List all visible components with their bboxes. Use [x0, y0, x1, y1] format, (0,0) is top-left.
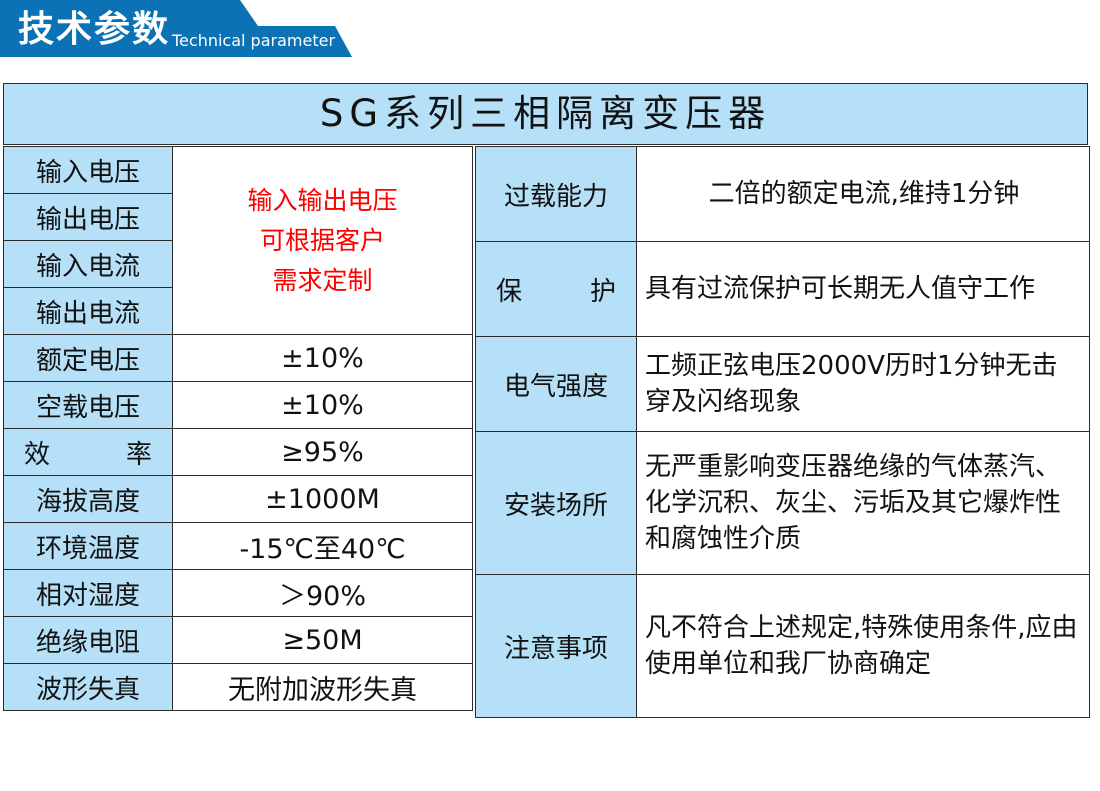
banner-title-cn: 技术参数	[18, 8, 170, 52]
page-title: SG系列三相隔离变压器	[320, 92, 771, 136]
table-title-row: SG系列三相隔离变压器	[3, 83, 1088, 145]
row-label-altitude: 海拔高度	[4, 476, 173, 523]
row-label-noload-voltage: 空载电压	[4, 382, 173, 429]
table-row: 输入电压 输入输出电压 可根据客户 需求定制	[4, 147, 473, 194]
row-value-altitude: ±1000M	[173, 476, 473, 523]
row-value-ambient-temperature: -15℃至40℃	[173, 523, 473, 570]
table-row: 额定电压 ±10%	[4, 335, 473, 382]
custom-voltage-note-line3: 需求定制	[173, 261, 472, 301]
custom-voltage-note: 输入输出电压 可根据客户 需求定制	[173, 147, 473, 335]
row-value-relative-humidity: ＞90%	[173, 570, 473, 617]
row-value-efficiency: ≥95%	[173, 429, 473, 476]
banner-title-en: Technical parameter	[172, 31, 335, 51]
row-label-protection-char1: 保	[496, 271, 522, 308]
row-label-protection-char2: 护	[590, 271, 616, 308]
table-row: 效 率 ≥95%	[4, 429, 473, 476]
table-row: 环境温度 -15℃至40℃	[4, 523, 473, 570]
row-label-protection: 保 护	[476, 242, 637, 337]
custom-voltage-note-line2: 可根据客户	[173, 221, 472, 261]
table-row: 绝缘电阻 ≥50M	[4, 617, 473, 664]
custom-voltage-note-line1: 输入输出电压	[173, 181, 472, 221]
row-value-electrical-strength: 工频正弦电压2000V历时1分钟无击穿及闪络现象	[637, 337, 1090, 432]
row-label-installation-site: 安装场所	[476, 432, 637, 575]
specifications-section: SG系列三相隔离变压器 输入电压 输入输出电压 可根据客户 需求定制 输出电压 …	[3, 83, 1090, 718]
row-value-noload-voltage: ±10%	[173, 382, 473, 429]
row-label-efficiency-char2: 率	[126, 434, 152, 471]
table-row: 空载电压 ±10%	[4, 382, 473, 429]
row-value-overload-capacity: 二倍的额定电流,维持1分钟	[637, 147, 1090, 242]
row-value-rated-voltage: ±10%	[173, 335, 473, 382]
tables-container: 输入电压 输入输出电压 可根据客户 需求定制 输出电压 输入电流 输出电流	[3, 146, 1090, 718]
table-row: 保 护 具有过流保护可长期无人值守工作	[476, 242, 1090, 337]
left-spec-table: 输入电压 输入输出电压 可根据客户 需求定制 输出电压 输入电流 输出电流	[3, 146, 473, 711]
row-label-efficiency: 效 率	[4, 429, 173, 476]
right-spec-table: 过载能力 二倍的额定电流,维持1分钟 保 护 具有过流保护可长期无人值守工作 电…	[475, 146, 1090, 718]
table-row: 过载能力 二倍的额定电流,维持1分钟	[476, 147, 1090, 242]
table-row: 海拔高度 ±1000M	[4, 476, 473, 523]
table-row: 波形失真 无附加波形失真	[4, 664, 473, 711]
row-label-relative-humidity: 相对湿度	[4, 570, 173, 617]
row-value-protection: 具有过流保护可长期无人值守工作	[637, 242, 1090, 337]
row-label-output-voltage: 输出电压	[4, 194, 173, 241]
row-label-input-voltage: 输入电压	[4, 147, 173, 194]
row-label-electrical-strength: 电气强度	[476, 337, 637, 432]
row-value-precautions: 凡不符合上述规定,特殊使用条件,应由使用单位和我厂协商确定	[637, 575, 1090, 718]
table-row: 安装场所 无严重影响变压器绝缘的气体蒸汽、化学沉积、灰尘、污垢及其它爆炸性和腐蚀…	[476, 432, 1090, 575]
row-label-overload-capacity: 过载能力	[476, 147, 637, 242]
row-value-installation-site: 无严重影响变压器绝缘的气体蒸汽、化学沉积、灰尘、污垢及其它爆炸性和腐蚀性介质	[637, 432, 1090, 575]
table-row: 电气强度 工频正弦电压2000V历时1分钟无击穿及闪络现象	[476, 337, 1090, 432]
row-value-insulation-resistance: ≥50M	[173, 617, 473, 664]
row-label-waveform-distortion: 波形失真	[4, 664, 173, 711]
row-label-precautions: 注意事项	[476, 575, 637, 718]
table-row: 注意事项 凡不符合上述规定,特殊使用条件,应由使用单位和我厂协商确定	[476, 575, 1090, 718]
row-label-rated-voltage: 额定电压	[4, 335, 173, 382]
row-label-output-current: 输出电流	[4, 288, 173, 335]
row-label-efficiency-char1: 效	[24, 434, 50, 471]
table-row: 相对湿度 ＞90%	[4, 570, 473, 617]
row-label-insulation-resistance: 绝缘电阻	[4, 617, 173, 664]
page-header-banner: 技术参数 Technical parameter	[0, 0, 360, 61]
row-label-ambient-temperature: 环境温度	[4, 523, 173, 570]
row-label-input-current: 输入电流	[4, 241, 173, 288]
row-value-waveform-distortion: 无附加波形失真	[173, 664, 473, 711]
